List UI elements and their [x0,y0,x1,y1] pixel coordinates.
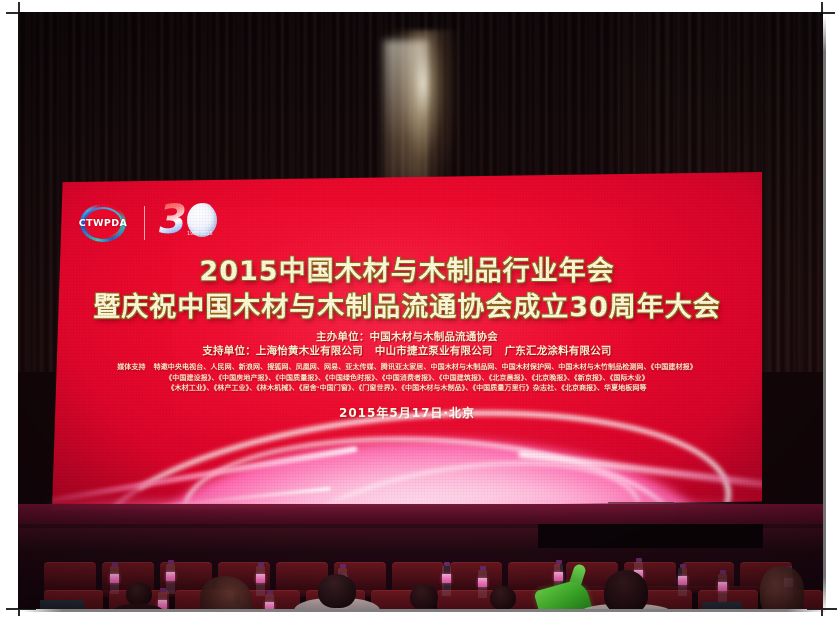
audience-head [410,584,438,609]
support-organizer-3: 广东汇龙涂料有限公司 [505,345,612,357]
media-support-line-1: 媒体支持特邀中央电视台、人民网、新浪网、搜狐网、凤凰网、网易、亚太传媒、腾讯亚太… [52,362,762,373]
water-bottle [442,566,451,596]
audience-area [18,524,823,609]
foreground-person-2-head [604,570,648,609]
media-support-line-3: 《木材工业》、《林产工业》、《林木机械》、《居舍·中国门窗》、《门窗世界》、《中… [52,383,762,394]
audience-dark-wall-panel [538,524,763,548]
laptop-screen [702,602,742,609]
date-and-location-text: 2015年5月17日·北京 [52,404,762,421]
support-organizer-1: 上海怡黄木业有限公司 [256,345,363,357]
led-screen-content: CTWPDA 30 1985-2015 2015中国木材与木制品行业年会 暨庆祝… [52,172,762,510]
title-block: 2015中国木材与木制品行业年会 暨庆祝中国木材与木制品流通协会成立30周年大会 [52,254,762,326]
host-organizer-line: 主办单位：中国木材与木制品流通协会 [52,330,762,344]
water-bottle [678,568,687,596]
support-organizer-2: 中山市捷立泵业有限公司 [375,345,493,357]
logo-row: CTWPDA 30 1985-2015 [74,200,221,246]
audience-head [490,586,516,609]
audience-member-right-face [760,566,804,609]
water-bottle [478,570,487,598]
main-title-line-2: 暨庆祝中国木材与木制品流通协会成立30周年大会 [52,290,762,326]
seat [44,562,96,592]
media-support-line-2: 《中国建设报》、《中国房地产报》、《中国质量报》、《中国绿色时报》、《中国消费者… [52,373,762,384]
laptop-screen [40,600,84,609]
organizer-block: 主办单位：中国木材与木制品流通协会 支持单位：上海怡黄木业有限公司中山市捷立泵业… [52,330,762,358]
host-organizer-value: 中国木材与木制品流通协会 [370,331,498,343]
logo-divider [144,206,145,240]
water-bottle [110,566,119,594]
foreground-person-head [318,574,356,608]
ctwpda-logo-text: CTWPDA [79,218,128,229]
anniversary-30-logo-icon: 30 1985-2015 [157,200,221,246]
media-support-text-1: 特邀中央电视台、人民网、新浪网、搜狐网、凤凰网、网易、亚太传媒、腾讯亚太家居、中… [154,363,697,371]
photo-edge-shadow-bottom [22,609,827,612]
water-bottle [718,574,727,602]
anniversary-caption-text: 1985-2015 [187,231,221,237]
ctwpda-association-logo-icon: CTWPDA [74,202,132,244]
stage-scene: CTWPDA 30 1985-2015 2015中国木材与木制品行业年会 暨庆祝… [18,12,823,609]
support-organizer-line: 支持单位：上海怡黄木业有限公司中山市捷立泵业有限公司广东汇龙涂料有限公司 [52,344,762,358]
media-support-block: 媒体支持特邀中央电视台、人民网、新浪网、搜狐网、凤凰网、网易、亚太传媒、腾讯亚太… [52,362,762,394]
audience-head [126,582,152,606]
water-bottle [256,566,265,596]
photo-edge-shadow-right [823,16,826,613]
main-title-line-1: 2015中国木材与木制品行业年会 [52,254,762,290]
host-organizer-label: 主办单位： [316,331,370,343]
media-support-label: 媒体支持 [117,363,145,371]
water-bottle [265,594,274,609]
support-organizer-label: 支持单位： [202,345,256,357]
led-backdrop-screen: CTWPDA 30 1985-2015 2015中国木材与木制品行业年会 暨庆祝… [52,172,762,510]
photo-frame: CTWPDA 30 1985-2015 2015中国木材与木制品行业年会 暨庆祝… [0,0,839,627]
water-bottle [166,564,175,594]
photograph: CTWPDA 30 1985-2015 2015中国木材与木制品行业年会 暨庆祝… [18,12,823,609]
